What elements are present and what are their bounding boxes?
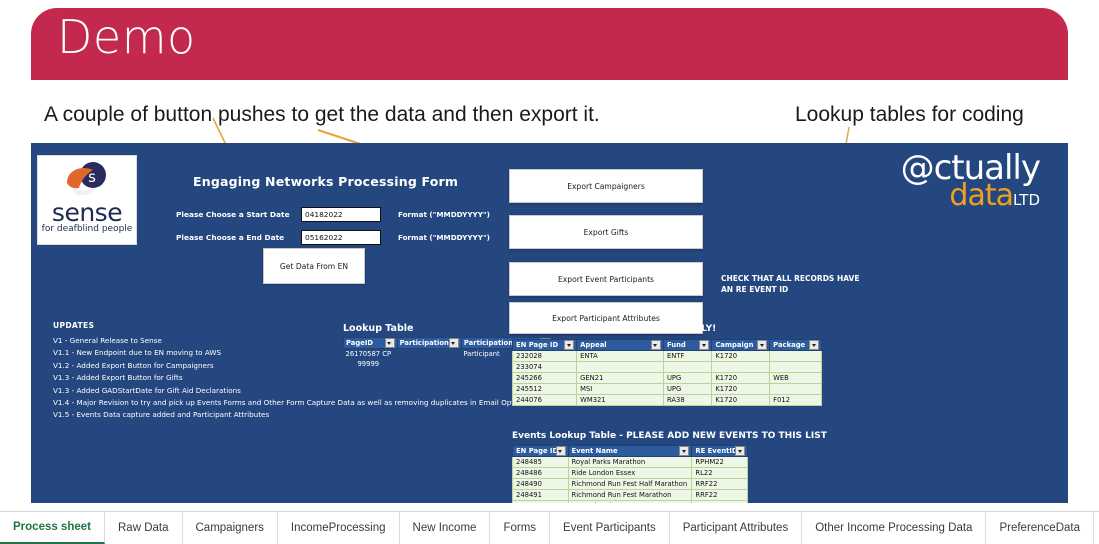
- cell-re-eventid: RRF22: [692, 479, 748, 490]
- cell-re-eventid: RPHM22: [692, 457, 748, 468]
- export-gifts-button[interactable]: Export Gifts: [509, 215, 703, 249]
- cell-event-name: Richmond Run Fest Half Marathon: [568, 479, 692, 490]
- column-header-event-name[interactable]: Event Name: [568, 446, 692, 457]
- end-date-input[interactable]: 05162022: [301, 230, 381, 245]
- cell-appeal: WM321: [577, 395, 664, 406]
- updates-heading: UPDATES: [53, 321, 527, 330]
- actually-logo-ltd: LTD: [1013, 191, 1040, 209]
- actually-data-logo: @ctually dataLTD: [901, 151, 1040, 211]
- cell-re-eventid: RRF22: [692, 490, 748, 501]
- actually-logo-data-word: data: [949, 178, 1013, 213]
- excel-process-sheet: s sense for deafblind people @ctually da…: [31, 143, 1068, 503]
- sense-hand-icon: s: [63, 161, 111, 198]
- filter-icon[interactable]: [564, 340, 574, 350]
- cell-appeal: GEN21: [577, 373, 664, 384]
- cell-campaign: K1720: [712, 384, 770, 395]
- column-header-fund[interactable]: Fund: [663, 340, 711, 351]
- cell-participation: [397, 359, 461, 369]
- table-header-row: EN Page ID Event Name RE EventID: [513, 446, 748, 457]
- lookup-table-title: Lookup Table: [343, 323, 413, 334]
- cell-package: WEB: [770, 373, 822, 384]
- cell-pageid: 99999: [344, 359, 398, 369]
- sheet-tab-bar: Process sheet Raw Data Campaigners Incom…: [0, 511, 1099, 544]
- column-header-appeal[interactable]: Appeal: [577, 340, 664, 351]
- events-lookup-table-title: Events Lookup Table - PLEASE ADD NEW EVE…: [512, 431, 827, 441]
- cell-en-page-id: 248491: [513, 490, 569, 501]
- table-row[interactable]: 233074: [513, 362, 822, 373]
- table-row[interactable]: 245512 MSI UPG K1720: [513, 384, 822, 395]
- cell-package: [770, 351, 822, 362]
- table-row[interactable]: 248491 Richmond Run Fest Marathon RRF22: [513, 490, 748, 501]
- filter-icon[interactable]: [757, 340, 767, 350]
- column-header-en-page-id[interactable]: EN Page ID: [513, 340, 577, 351]
- sheet-tab-campaigners[interactable]: Campaigners: [183, 512, 278, 544]
- cell-event-name: Richmond Run Fest Marathon: [568, 490, 692, 501]
- cell-re-eventid: STP22: [692, 501, 748, 504]
- table-row[interactable]: 248490 Richmond Run Fest Half Marathon R…: [513, 479, 748, 490]
- column-header-re-eventid[interactable]: RE EventID: [692, 446, 748, 457]
- form-title: Engaging Networks Processing Form: [193, 174, 458, 189]
- filter-icon[interactable]: [699, 340, 709, 350]
- column-header-campaign[interactable]: Campaign: [712, 340, 770, 351]
- sense-logo-tagline: for deafblind people: [38, 224, 136, 234]
- cell-en-page-id: 248490: [513, 479, 569, 490]
- cell-en-page-id: 232028: [513, 351, 577, 362]
- start-date-format-hint: Format ("MMDDYYYY"): [398, 210, 490, 219]
- get-data-from-en-button[interactable]: Get Data From EN: [263, 248, 365, 284]
- cell-campaign: K1720: [712, 395, 770, 406]
- cell-appeal: MSI: [577, 384, 664, 395]
- sheet-tab-unsubscribes[interactable]: Unsubscribes: [1094, 512, 1099, 544]
- page-title: Demo: [57, 10, 196, 64]
- gifts-lookup-table: EN Page ID Appeal Fund Campaign Package …: [512, 339, 822, 406]
- cell-en-page-id: 245934: [513, 501, 569, 504]
- sheet-tab-forms[interactable]: Forms: [490, 512, 550, 544]
- cell-campaign: K1720: [712, 373, 770, 384]
- filter-icon[interactable]: [385, 338, 395, 348]
- table-header-row: EN Page ID Appeal Fund Campaign Package: [513, 340, 822, 351]
- cell-event-name: Royal Parks Marathon: [568, 457, 692, 468]
- cell-participation: [397, 349, 461, 360]
- events-lookup-table: EN Page ID Event Name RE EventID 248485 …: [512, 445, 748, 503]
- column-header-participation[interactable]: Participation: [397, 338, 461, 349]
- updates-item: V1.4 - Major Revision to try and pick up…: [53, 397, 527, 409]
- sheet-tab-new-income[interactable]: New Income: [400, 512, 491, 544]
- table-row[interactable]: 245934 Sensational Tea Party STP22: [513, 501, 748, 504]
- sheet-tab-incomeprocessing[interactable]: IncomeProcessing: [278, 512, 400, 544]
- svg-text:s: s: [88, 168, 96, 186]
- cell-en-page-id: 245266: [513, 373, 577, 384]
- filter-icon[interactable]: [735, 446, 745, 456]
- column-header-pageid[interactable]: PageID: [344, 338, 398, 349]
- callout-left-text: A couple of button pushes to get the dat…: [44, 103, 600, 127]
- sheet-tab-preferencedata[interactable]: PreferenceData: [986, 512, 1094, 544]
- callout-right-text: Lookup tables for coding: [795, 103, 1024, 127]
- cell-campaign: [712, 362, 770, 373]
- cell-package: [770, 384, 822, 395]
- cell-appeal: [577, 362, 664, 373]
- sheet-tab-event-participants[interactable]: Event Participants: [550, 512, 670, 544]
- cell-campaign: K1720: [712, 351, 770, 362]
- cell-package: [770, 362, 822, 373]
- column-header-en-page-id[interactable]: EN Page ID: [513, 446, 569, 457]
- export-event-participants-button[interactable]: Export Event Participants: [509, 262, 703, 296]
- table-row[interactable]: 245266 GEN21 UPG K1720 WEB: [513, 373, 822, 384]
- slide-title-banner: Demo: [31, 8, 1068, 80]
- filter-icon[interactable]: [809, 340, 819, 350]
- table-row[interactable]: 232028 ENTA ENTF K1720: [513, 351, 822, 362]
- cell-en-page-id: 248485: [513, 457, 569, 468]
- cell-pageid: 26170587 CP: [344, 349, 398, 360]
- filter-icon[interactable]: [651, 340, 661, 350]
- sheet-tab-process-sheet[interactable]: Process sheet: [0, 512, 105, 544]
- filter-icon[interactable]: [556, 446, 566, 456]
- cell-en-page-id: 245512: [513, 384, 577, 395]
- table-row[interactable]: 248486 Ride London Essex RL22: [513, 468, 748, 479]
- end-date-format-hint: Format ("MMDDYYYY"): [398, 233, 490, 242]
- cell-fund: [663, 362, 711, 373]
- cell-fund: RA38: [663, 395, 711, 406]
- cell-en-page-id: 244076: [513, 395, 577, 406]
- cell-fund: ENTF: [663, 351, 711, 362]
- cell-en-page-id: 248486: [513, 468, 569, 479]
- table-row[interactable]: 248485 Royal Parks Marathon RPHM22: [513, 457, 748, 468]
- cell-fund: UPG: [663, 373, 711, 384]
- filter-icon[interactable]: [449, 338, 459, 348]
- cell-event-name: Ride London Essex: [568, 468, 692, 479]
- cell-re-eventid: RL22: [692, 468, 748, 479]
- updates-item: V1.3 - Added GADStartDate for Gift Aid D…: [53, 385, 527, 397]
- sense-logo-word: sense: [38, 198, 136, 227]
- sheet-tab-other-income-processing-data[interactable]: Other Income Processing Data: [802, 512, 986, 544]
- cell-event-name: Sensational Tea Party: [568, 501, 692, 504]
- cell-en-page-id: 233074: [513, 362, 577, 373]
- sheet-tab-raw-data[interactable]: Raw Data: [105, 512, 183, 544]
- start-date-label: Please Choose a Start Date: [176, 210, 290, 219]
- sense-logo: s sense for deafblind people: [37, 155, 137, 245]
- table-row[interactable]: 244076 WM321 RA38 K1720 F012: [513, 395, 822, 406]
- export-campaigners-button[interactable]: Export Campaigners: [509, 169, 703, 203]
- updates-item: V1.5 - Events Data capture added and Par…: [53, 409, 527, 421]
- cell-appeal: ENTA: [577, 351, 664, 362]
- end-date-value: 05162022: [305, 233, 343, 242]
- cell-fund: UPG: [663, 384, 711, 395]
- cell-package: F012: [770, 395, 822, 406]
- gifts-lookup-table-title: Gifts Lookup Table - FOR TESTING ONLY!: [512, 324, 716, 334]
- sheet-tab-participant-attributes[interactable]: Participant Attributes: [670, 512, 802, 544]
- record-check-warning: CHECK THAT ALL RECORDS HAVE AN RE EVENT …: [721, 273, 871, 296]
- start-date-input[interactable]: 04182022: [301, 207, 381, 222]
- end-date-label: Please Choose a End Date: [176, 233, 284, 242]
- updates-item: V1.3 - Added Export Button for Gifts: [53, 372, 527, 384]
- filter-icon[interactable]: [679, 446, 689, 456]
- column-header-package[interactable]: Package: [770, 340, 822, 351]
- start-date-value: 04182022: [305, 210, 343, 219]
